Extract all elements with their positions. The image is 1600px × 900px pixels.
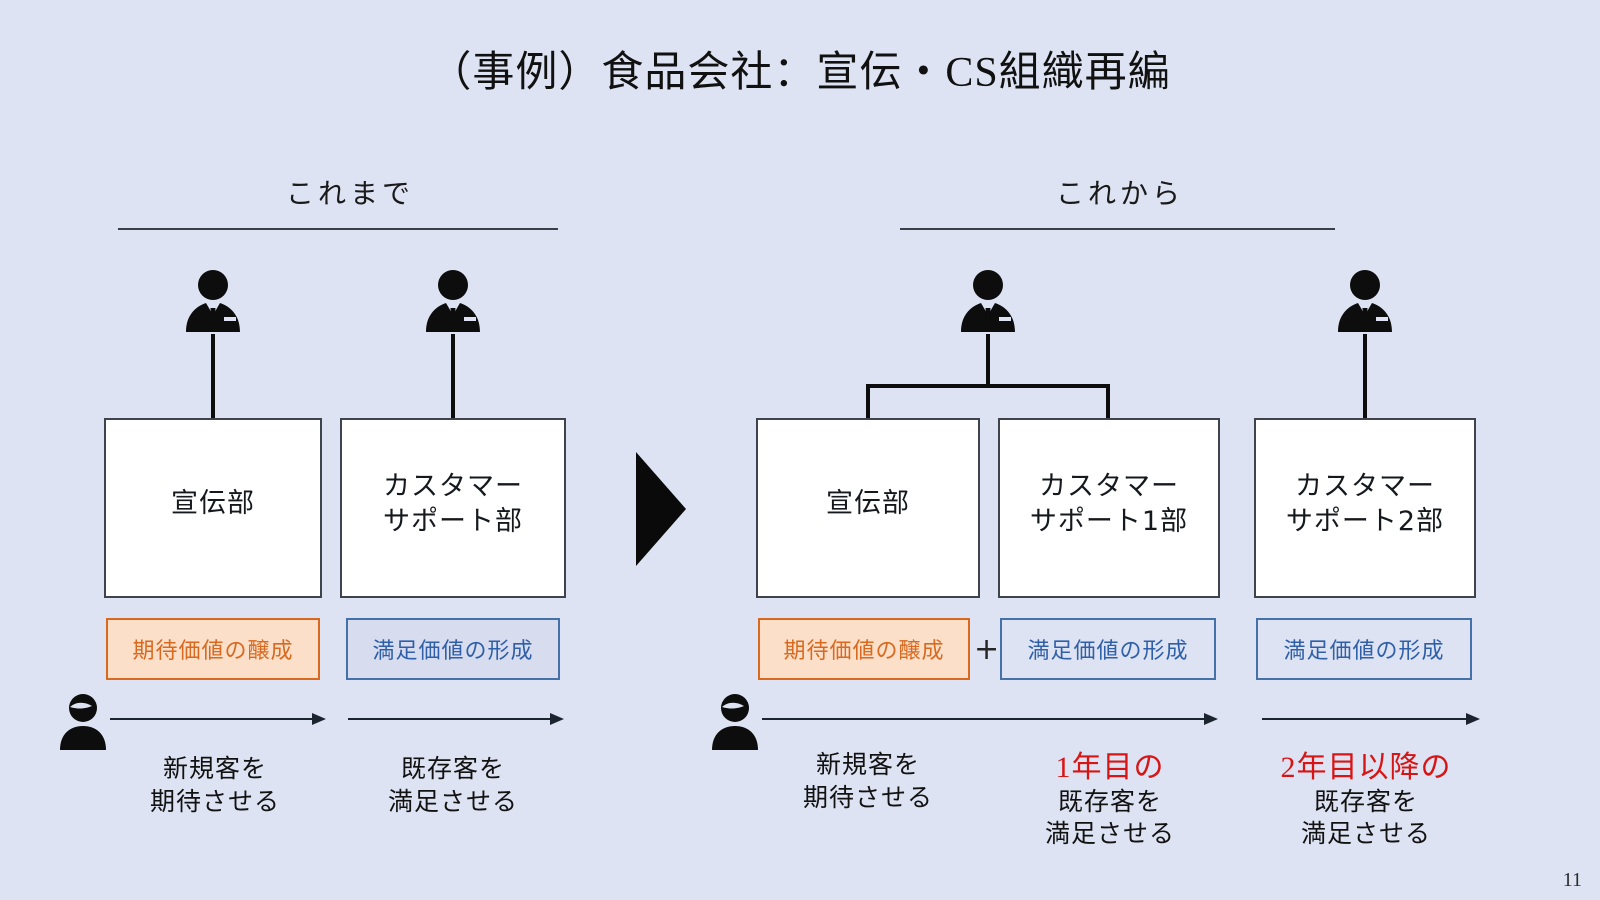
caption-emphasis: 2年目以降の <box>1256 750 1476 787</box>
caption-text: 新規客を期待させる <box>150 756 280 816</box>
page-title: （事例）食品会社：宣伝・CS組織再編 <box>0 38 1600 99</box>
caption-before-2: 既存客を満足させる <box>344 754 562 819</box>
value-chip-satisfy-before[interactable]: 満足価値の形成 <box>346 618 560 680</box>
caption-emphasis: 1年目の <box>1000 750 1220 787</box>
dept-box-before-1[interactable]: 宣伝部 <box>104 418 322 598</box>
dept-box-after-2[interactable]: カスタマーサポート1部 <box>998 418 1220 598</box>
page-number: 11 <box>1563 869 1582 892</box>
section-rule-after <box>900 228 1335 230</box>
caption-after-3: 2年目以降の 既存客を満足させる <box>1256 750 1476 852</box>
flow-arrow-after-2 <box>1262 712 1480 726</box>
customer-person-icon <box>708 692 762 750</box>
value-chip-satisfy-after-2[interactable]: 満足価値の形成 <box>1256 618 1472 680</box>
section-header-before: これまで <box>140 172 560 212</box>
right-triangle-arrow-icon <box>634 450 686 568</box>
org-bracket <box>866 384 1110 420</box>
customer-person-icon <box>56 692 110 750</box>
dept-box-before-2[interactable]: カスタマーサポート部 <box>340 418 566 598</box>
value-chip-satisfy-after-1[interactable]: 満足価値の形成 <box>1000 618 1216 680</box>
flow-arrow-before-2 <box>348 712 564 726</box>
caption-text: 既存客を満足させる <box>1301 789 1431 849</box>
slide-canvas: （事例）食品会社：宣伝・CS組織再編 これまで これから 宣伝部 カスタマーサポ… <box>0 0 1600 900</box>
dept-box-after-1[interactable]: 宣伝部 <box>756 418 980 598</box>
caption-after-2: 1年目の 既存客を満足させる <box>1000 750 1220 852</box>
org-stem-line <box>986 334 990 386</box>
businessman-icon <box>1332 268 1398 334</box>
plus-operator: + <box>974 632 999 667</box>
section-header-after: これから <box>905 172 1335 212</box>
value-chip-expect-after[interactable]: 期待価値の醸成 <box>758 618 970 680</box>
org-stem-line <box>1363 334 1367 418</box>
flow-arrow-after-1 <box>762 712 1218 726</box>
value-chip-expect-before[interactable]: 期待価値の醸成 <box>106 618 320 680</box>
businessman-icon <box>420 268 486 334</box>
businessman-icon <box>955 268 1021 334</box>
dept-box-after-3[interactable]: カスタマーサポート2部 <box>1254 418 1476 598</box>
businessman-icon <box>180 268 246 334</box>
caption-text: 新規客を期待させる <box>803 752 933 812</box>
caption-text: 既存客を満足させる <box>1045 789 1175 849</box>
flow-arrow-before-1 <box>110 712 326 726</box>
caption-before-1: 新規客を期待させる <box>106 754 324 819</box>
caption-text: 既存客を満足させる <box>388 756 518 816</box>
section-rule-before <box>118 228 558 230</box>
org-stem-line <box>451 334 455 418</box>
org-stem-line <box>211 334 215 418</box>
caption-after-1: 新規客を期待させる <box>758 750 978 815</box>
